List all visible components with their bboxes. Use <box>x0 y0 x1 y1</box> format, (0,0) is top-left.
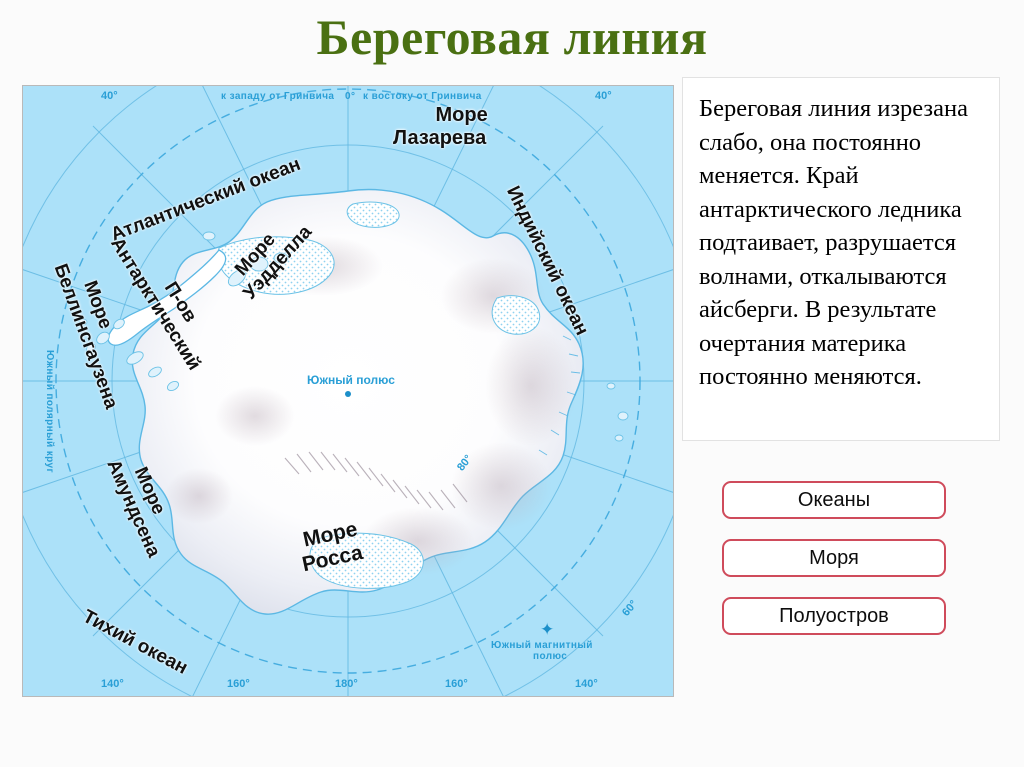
compass-star-icon: ✦ <box>540 621 554 638</box>
map-canvas: Атлантический океан Индийский океан Тихи… <box>23 86 673 696</box>
seas-button[interactable]: Моря <box>722 539 946 577</box>
south-pole-marker <box>345 391 351 397</box>
page-title: Береговая линия <box>0 6 1024 68</box>
antarctica-map[interactable]: Атлантический океан Индийский океан Тихи… <box>22 85 674 697</box>
description-text: Береговая линия изрезана слабо, она пост… <box>699 92 983 394</box>
oceans-button[interactable]: Океаны <box>722 481 946 519</box>
description-panel: Береговая линия изрезана слабо, она пост… <box>682 77 1000 441</box>
map-label-lazarev-sea: Море Лазарева <box>415 104 508 150</box>
peninsula-button[interactable]: Полуостров <box>722 597 946 635</box>
